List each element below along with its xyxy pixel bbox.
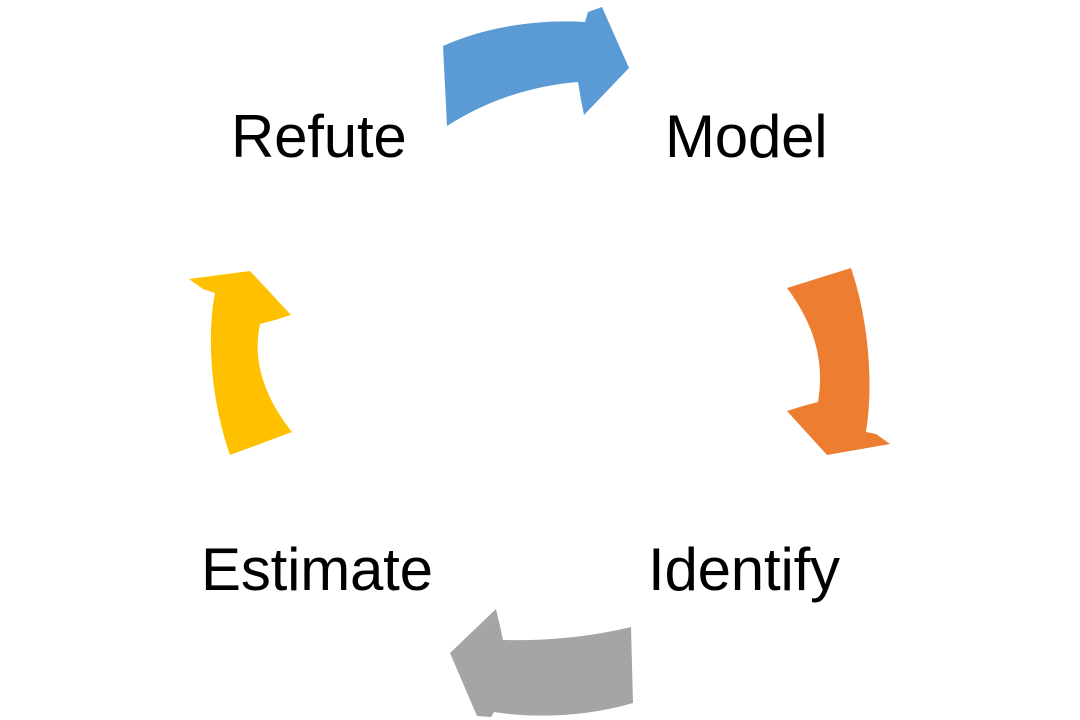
diagram-canvas: Refute Model Identify Estimate [0,0,1080,720]
node-label-refute: Refute [231,107,407,167]
arrow-left-up-yellow [189,271,292,455]
arrow-right-down-orange [787,268,890,455]
arrow-bottom-left-gray [450,609,633,717]
node-label-model: Model [665,107,827,167]
cycle-arrows-group [0,0,1080,720]
node-label-identify: Identify [648,540,840,600]
node-label-estimate: Estimate [201,540,433,600]
arrow-top-right-blue [443,7,629,126]
